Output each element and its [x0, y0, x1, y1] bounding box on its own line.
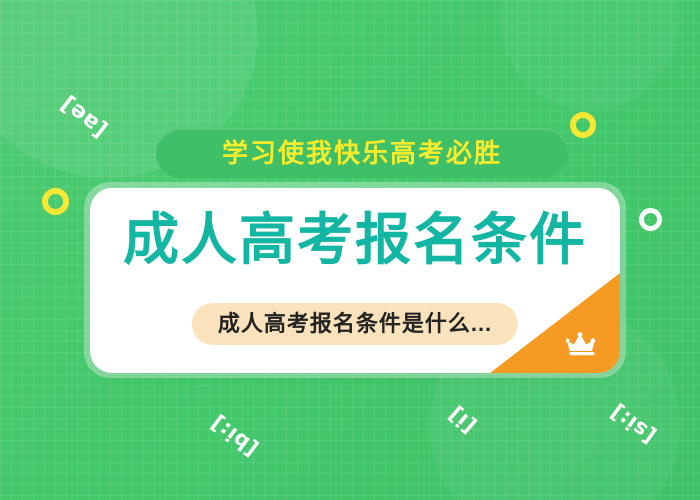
decorative-ring-yellow-left — [42, 188, 69, 215]
page-title: 成人高考报名条件 — [90, 212, 620, 268]
top-slogan-text: 学习使我快乐高考必胜 — [222, 140, 502, 166]
subtitle-text: 成人高考报名条件是什么... — [218, 313, 492, 335]
decorative-ring-white-right — [639, 208, 662, 231]
subtitle-pill: 成人高考报名条件是什么... — [192, 303, 518, 345]
top-slogan-banner: 学习使我快乐高考必胜 — [156, 128, 568, 178]
poster-canvas: [ae] [bi:] [i] [si:] 学习使我快乐高考必胜 成人高考报名条件… — [0, 0, 700, 500]
decorative-ring-yellow-top-right — [570, 112, 596, 138]
main-card: 成人高考报名条件 成人高考报名条件是什么... — [90, 188, 620, 373]
crown-icon — [564, 330, 600, 356]
